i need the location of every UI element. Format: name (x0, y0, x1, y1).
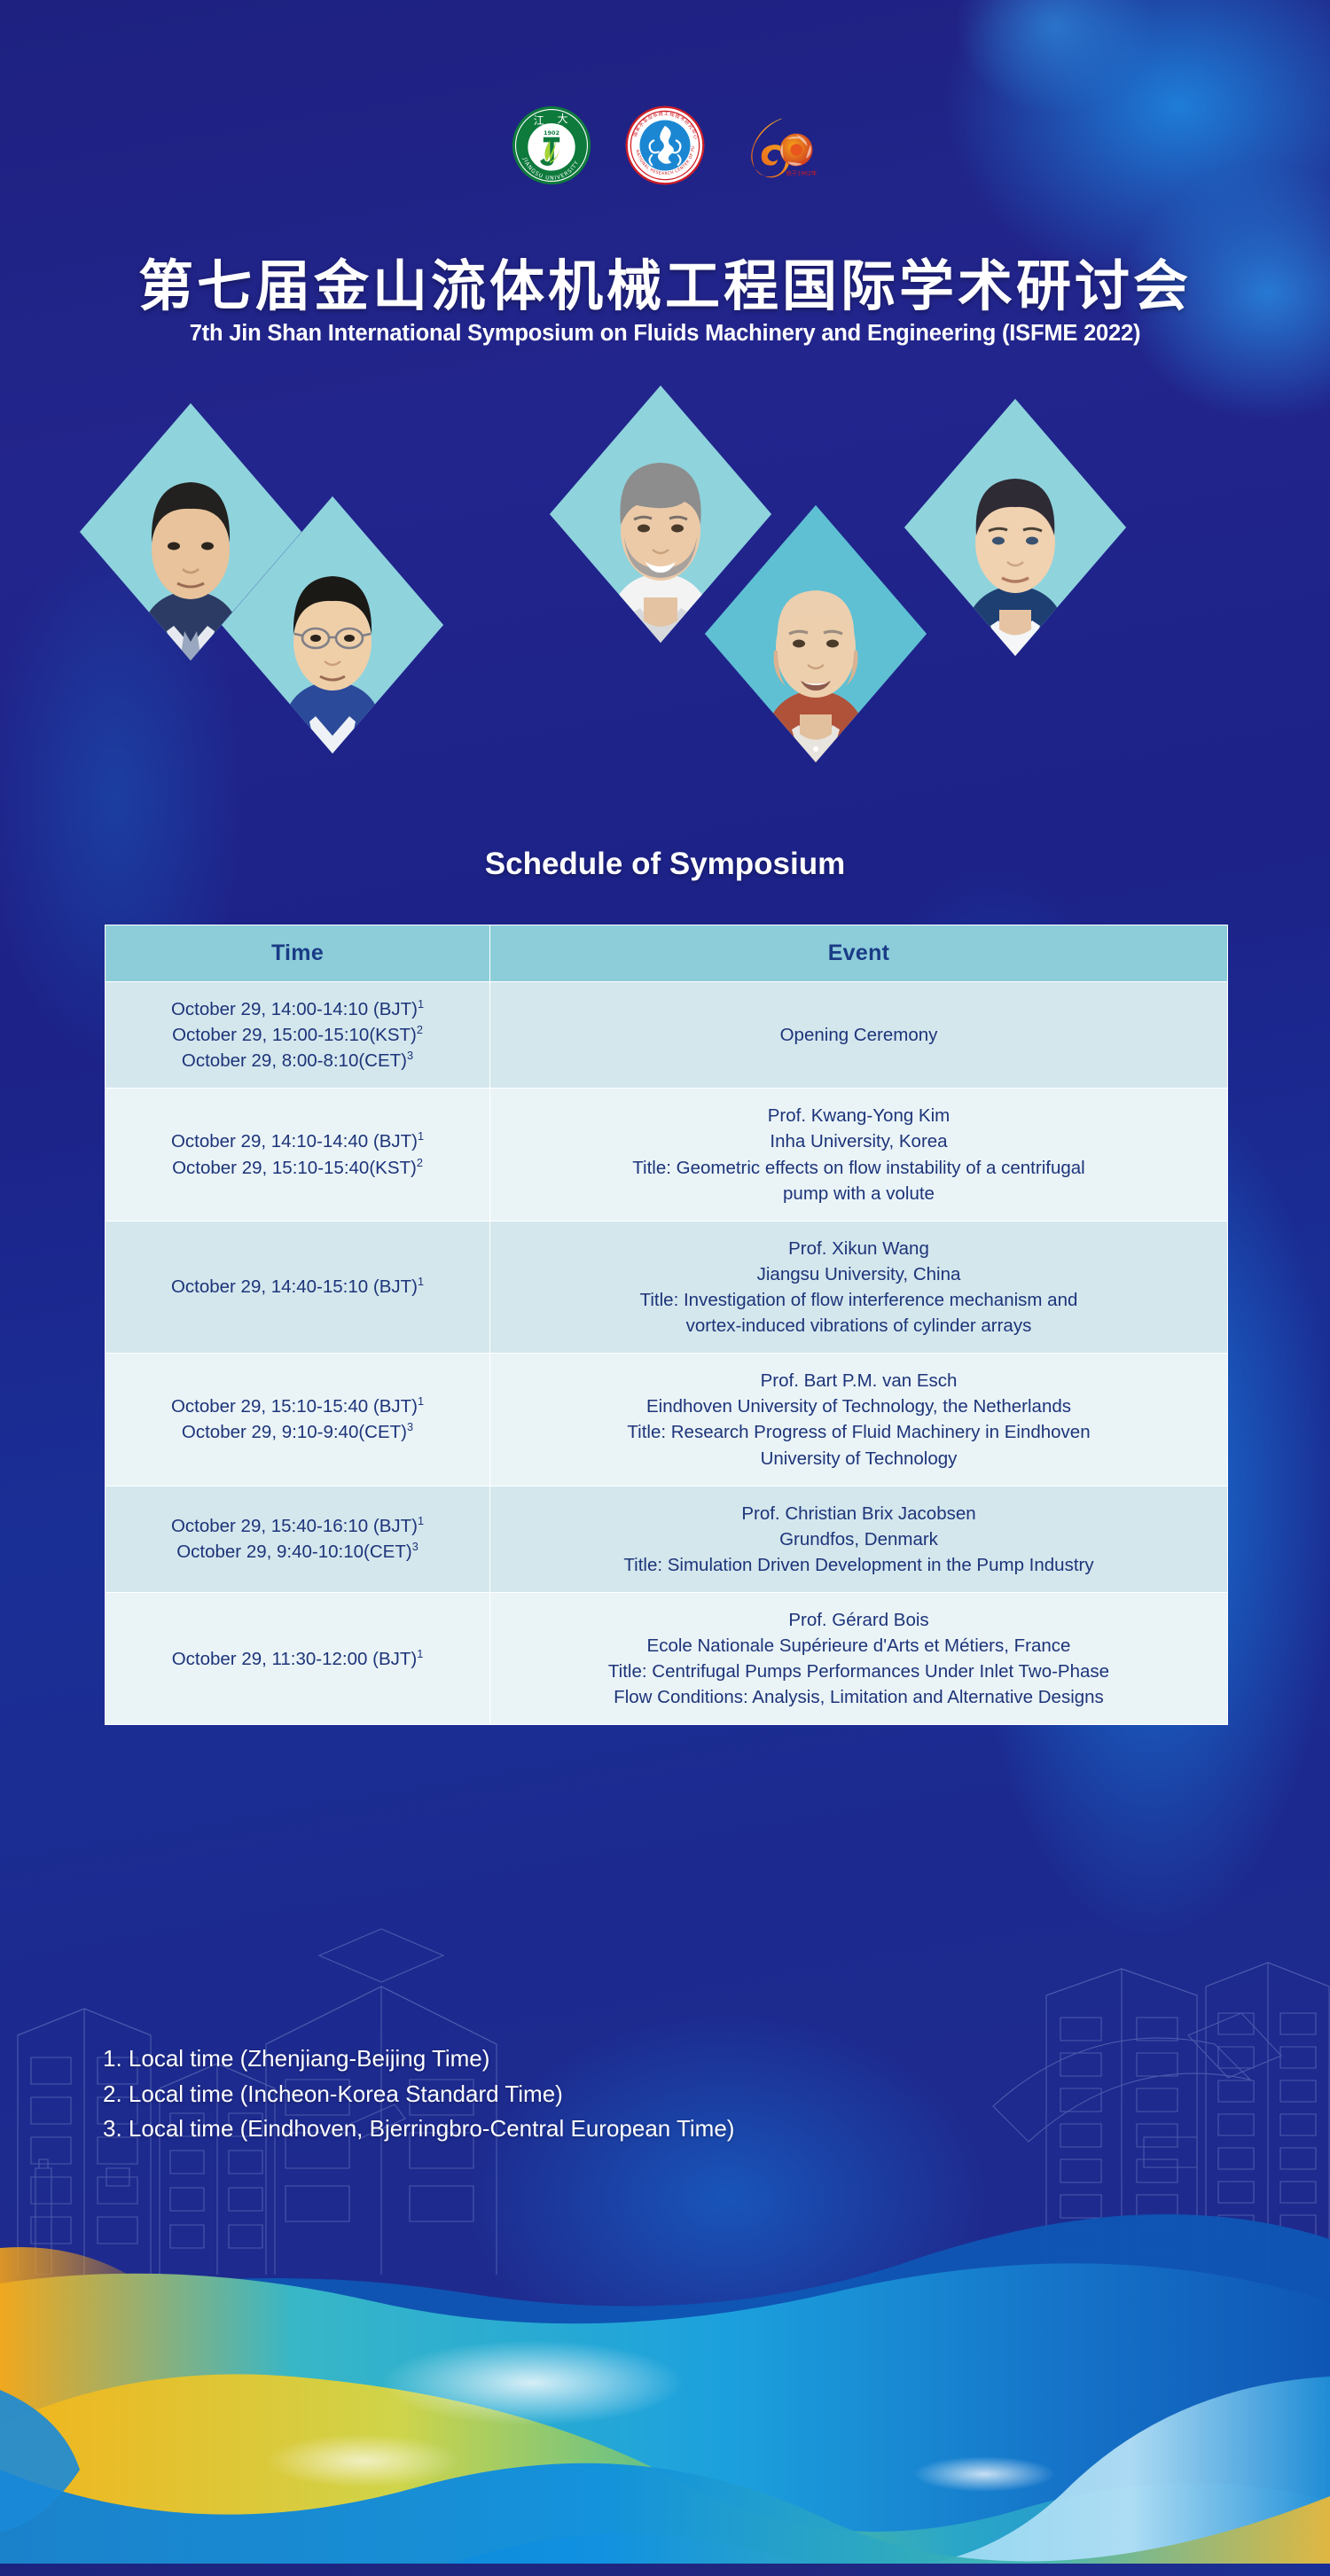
table-row: October 29, 14:00-14:10 (BJT)1October 29… (106, 982, 1228, 1089)
footnote-marker: 2 (417, 1023, 423, 1036)
event-line: vortex-induced vibrations of cylinder ar… (501, 1313, 1217, 1339)
footnote-marker: 3 (407, 1421, 413, 1434)
time-line: October 29, 14:40-15:10 (BJT)1 (116, 1274, 479, 1300)
event-line: University of Technology (501, 1446, 1217, 1471)
schedule-table-container: Time Event October 29, 14:00-14:10 (BJT)… (105, 925, 1227, 1725)
cell-time: October 29, 14:00-14:10 (BJT)1October 29… (106, 982, 490, 1089)
footnote-marker: 3 (412, 1540, 419, 1553)
event-line: Title: Simulation Driven Development in … (501, 1552, 1217, 1578)
table-row: October 29, 15:10-15:40 (BJT)1October 29… (106, 1354, 1228, 1486)
svg-text:始于1962年: 始于1962年 (786, 168, 818, 176)
time-line: October 29, 9:40-10:10(CET)3 (116, 1539, 479, 1565)
footnote-3: 3. Local time (Eindhoven, Bjerringbro-Ce… (103, 2112, 1167, 2147)
symposium-title-english: 7th Jin Shan International Symposium on … (0, 321, 1330, 347)
cell-event: Prof. Christian Brix JacobsenGrundfos, D… (490, 1486, 1228, 1592)
footnote-marker: 1 (418, 997, 424, 1011)
footnote-marker: 1 (418, 1130, 424, 1144)
event-line: Prof. Bart P.M. van Esch (501, 1368, 1217, 1393)
event-line: Title: Geometric effects on flow instabi… (501, 1155, 1217, 1181)
table-header-row: Time Event (106, 925, 1228, 982)
time-line: October 29, 15:10-15:40 (BJT)1 (116, 1393, 479, 1419)
footnote-marker: 1 (418, 1276, 424, 1289)
event-line: Eindhoven University of Technology, the … (501, 1393, 1217, 1419)
event-line: Prof. Kwang-Yong Kim (501, 1103, 1217, 1128)
table-row: October 29, 14:10-14:40 (BJT)1October 29… (106, 1089, 1228, 1221)
schedule-heading: Schedule of Symposium (0, 847, 1330, 882)
column-header-time: Time (106, 925, 490, 982)
schedule-table: Time Event October 29, 14:00-14:10 (BJT)… (105, 925, 1228, 1725)
event-line: Jiangsu University, China (501, 1261, 1217, 1287)
wave-decoration (0, 2177, 1330, 2576)
national-research-center-of-pumps-logo: 国家水泵及系统工程技术研究中心 NATIONAL RESEARCH CENTER… (624, 105, 706, 186)
event-line: Prof. Christian Brix Jacobsen (501, 1501, 1217, 1526)
time-line: October 29, 11:30-12:00 (BJT)1 (116, 1646, 479, 1672)
svg-text:大: 大 (557, 113, 567, 125)
speaker-diamonds-svg (0, 372, 1330, 833)
time-line: October 29, 8:00-8:10(CET)3 (116, 1048, 479, 1073)
svg-text:1902: 1902 (544, 129, 559, 137)
event-line: Ecole Nationale Supérieure d'Arts et Mét… (501, 1633, 1217, 1659)
cell-time: October 29, 14:40-15:10 (BJT)1 (106, 1221, 490, 1353)
footnote-marker: 1 (418, 1514, 424, 1527)
logo-row: 1902 江 大 JIANGSU UNIVERSITY 国家水泵及系统工程技术研… (0, 105, 1330, 186)
table-row: October 29, 11:30-12:00 (BJT)1Prof. Géra… (106, 1592, 1228, 1724)
poster-canvas: 1902 江 大 JIANGSU UNIVERSITY 国家水泵及系统工程技术研… (0, 0, 1330, 2576)
time-line: October 29, 9:10-9:40(CET)3 (116, 1419, 479, 1445)
cell-event: Prof. Xikun WangJiangsu University, Chin… (490, 1221, 1228, 1353)
cell-event: Prof. Gérard BoisEcole Nationale Supérie… (490, 1592, 1228, 1724)
event-line: Opening Ceremony (501, 1022, 1217, 1048)
cell-time: October 29, 11:30-12:00 (BJT)1 (106, 1592, 490, 1724)
footnote-marker: 2 (417, 1156, 423, 1169)
event-line: Grundfos, Denmark (501, 1526, 1217, 1552)
event-line: Prof. Xikun Wang (501, 1236, 1217, 1261)
table-row: October 29, 15:40-16:10 (BJT)1October 29… (106, 1486, 1228, 1592)
cell-time: October 29, 15:10-15:40 (BJT)1October 29… (106, 1354, 490, 1486)
time-line: October 29, 15:10-15:40(KST)2 (116, 1155, 479, 1181)
event-line: pump with a volute (501, 1181, 1217, 1206)
footnote-marker: 1 (417, 1647, 423, 1660)
footnotes: 1. Local time (Zhenjiang-Beijing Time) 2… (103, 2041, 1167, 2147)
cell-event: Prof. Kwang-Yong KimInha University, Kor… (490, 1089, 1228, 1221)
cell-event: Opening Ceremony (490, 982, 1228, 1089)
time-line: October 29, 15:00-15:10(KST)2 (116, 1022, 479, 1048)
jiangsu-university-logo: 1902 江 大 JIANGSU UNIVERSITY (511, 105, 592, 186)
event-line: Inha University, Korea (501, 1128, 1217, 1154)
table-row: October 29, 14:40-15:10 (BJT)1Prof. Xiku… (106, 1221, 1228, 1353)
time-line: October 29, 14:10-14:40 (BJT)1 (116, 1128, 479, 1154)
cell-time: October 29, 15:40-16:10 (BJT)1October 29… (106, 1486, 490, 1592)
cell-time: October 29, 14:10-14:40 (BJT)1October 29… (106, 1089, 490, 1221)
speaker-photo-grid (0, 372, 1330, 833)
event-line: Title: Research Progress of Fluid Machin… (501, 1419, 1217, 1445)
svg-text:江: 江 (534, 114, 544, 127)
footer-strip (0, 2564, 1330, 2576)
event-line: Title: Investigation of flow interferenc… (501, 1287, 1217, 1313)
footnote-1: 1. Local time (Zhenjiang-Beijing Time) (103, 2041, 1167, 2077)
cell-event: Prof. Bart P.M. van EschEindhoven Univer… (490, 1354, 1228, 1486)
speaker-photo-5 (904, 399, 1126, 665)
event-line: Flow Conditions: Analysis, Limitation an… (501, 1684, 1217, 1710)
60th-anniversary-logo: 始于1962年 (738, 105, 819, 186)
symposium-title-chinese: 第七届金山流体机械工程国际学术研讨会 (0, 241, 1330, 321)
event-line: Title: Centrifugal Pumps Performances Un… (501, 1659, 1217, 1684)
column-header-event: Event (490, 925, 1228, 982)
footnote-2: 2. Local time (Incheon-Korea Standard Ti… (103, 2077, 1167, 2112)
event-line: Prof. Gérard Bois (501, 1607, 1217, 1633)
footnote-marker: 1 (418, 1394, 424, 1408)
time-line: October 29, 14:00-14:10 (BJT)1 (116, 996, 479, 1022)
time-line: October 29, 15:40-16:10 (BJT)1 (116, 1513, 479, 1539)
footnote-marker: 3 (407, 1049, 413, 1062)
